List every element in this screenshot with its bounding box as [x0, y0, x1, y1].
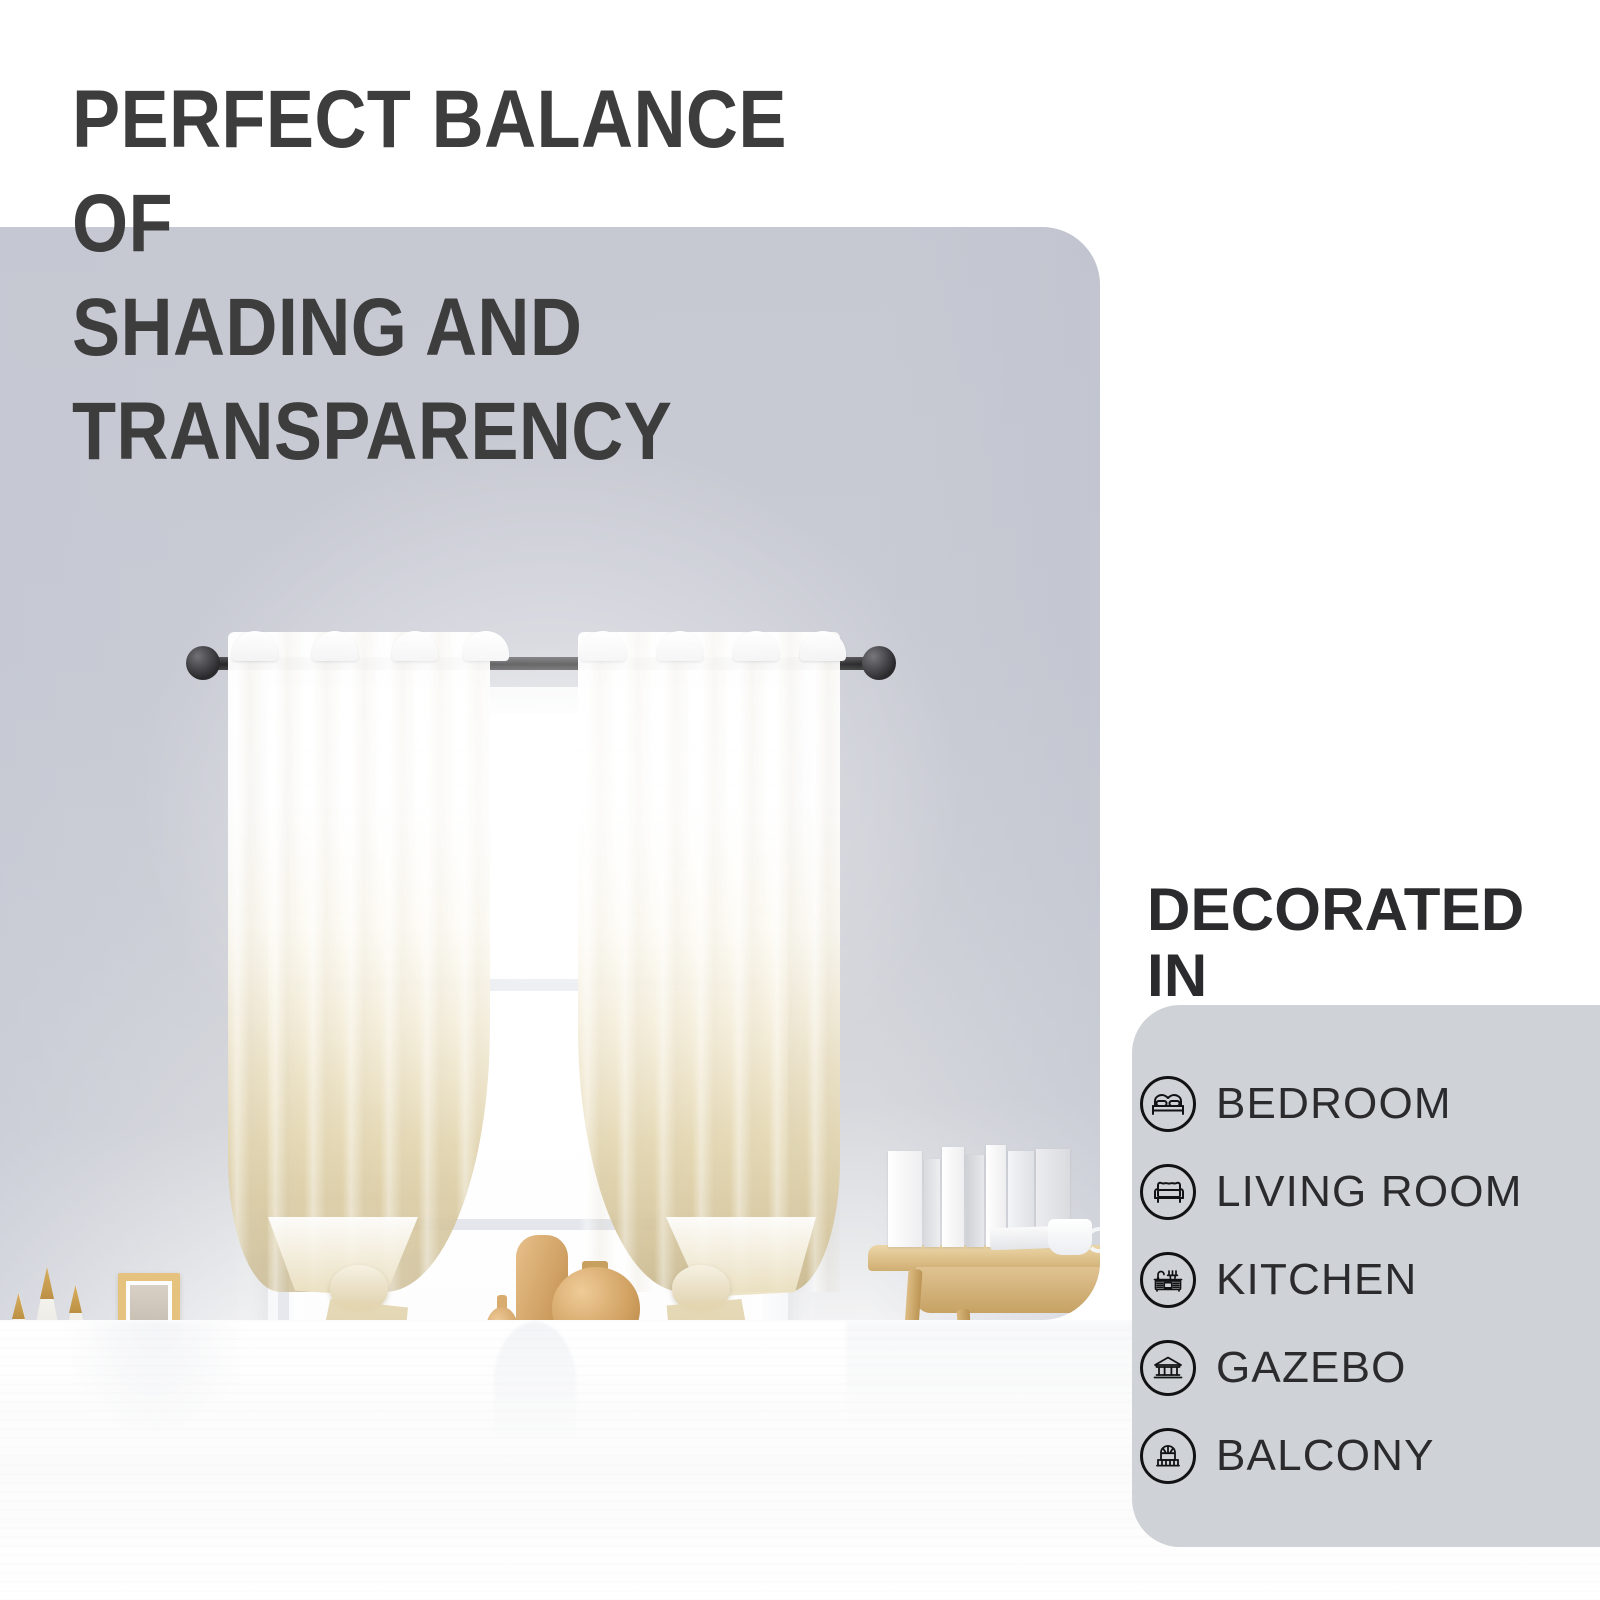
sofa-icon — [1140, 1164, 1196, 1220]
kitchen-counter-icon — [1140, 1252, 1196, 1308]
curtain-folds — [578, 632, 840, 1292]
picture-frame-artwork — [130, 1285, 168, 1320]
bed-icon — [1140, 1076, 1196, 1132]
floor-reflection-pedestal — [494, 1322, 576, 1442]
room-list-item-bedroom[interactable]: BEDROOM — [1140, 1060, 1600, 1148]
curtain-folds — [228, 632, 490, 1292]
room-label-living-room: LIVING ROOM — [1216, 1167, 1523, 1217]
room-list-item-balcony[interactable]: BALCONY — [1140, 1412, 1600, 1500]
room-label-bedroom: BEDROOM — [1216, 1079, 1452, 1129]
floor-reflection-lamp — [60, 1322, 250, 1440]
floor-reflection-desk — [846, 1322, 1146, 1432]
room-list: BEDROOM LIVING ROOM — [1140, 1060, 1600, 1500]
book-spine — [966, 1155, 984, 1247]
gazebo-icon — [1140, 1340, 1196, 1396]
room-label-gazebo: GAZEBO — [1216, 1343, 1407, 1393]
room-list-item-gazebo[interactable]: GAZEBO — [1140, 1324, 1600, 1412]
poster-canvas: PERFECT BALANCE OF SHADING AND TRANSPARE… — [0, 0, 1600, 1600]
book-spine-sei — [888, 1151, 922, 1247]
sheer-curtain-panel-left — [228, 632, 490, 1292]
curtain-rod-finial-right — [862, 646, 896, 680]
wooden-desk-apron — [916, 1267, 1100, 1313]
curtain-rod-finial-left — [186, 646, 220, 680]
book-spine-marilyn-monroe — [942, 1147, 964, 1247]
room-list-item-living-room[interactable]: LIVING ROOM — [1140, 1148, 1600, 1236]
sheer-curtain-panel-right — [578, 632, 840, 1292]
balcony-door-icon — [1140, 1428, 1196, 1484]
room-label-kitchen: KITCHEN — [1216, 1255, 1418, 1305]
decorated-in-heading: DECORATED IN — [1147, 877, 1600, 1009]
book-spine — [924, 1159, 940, 1247]
room-label-balcony: BALCONY — [1216, 1431, 1435, 1481]
page-title: PERFECT BALANCE OF SHADING AND TRANSPARE… — [72, 68, 864, 484]
room-list-item-kitchen[interactable]: KITCHEN — [1140, 1236, 1600, 1324]
